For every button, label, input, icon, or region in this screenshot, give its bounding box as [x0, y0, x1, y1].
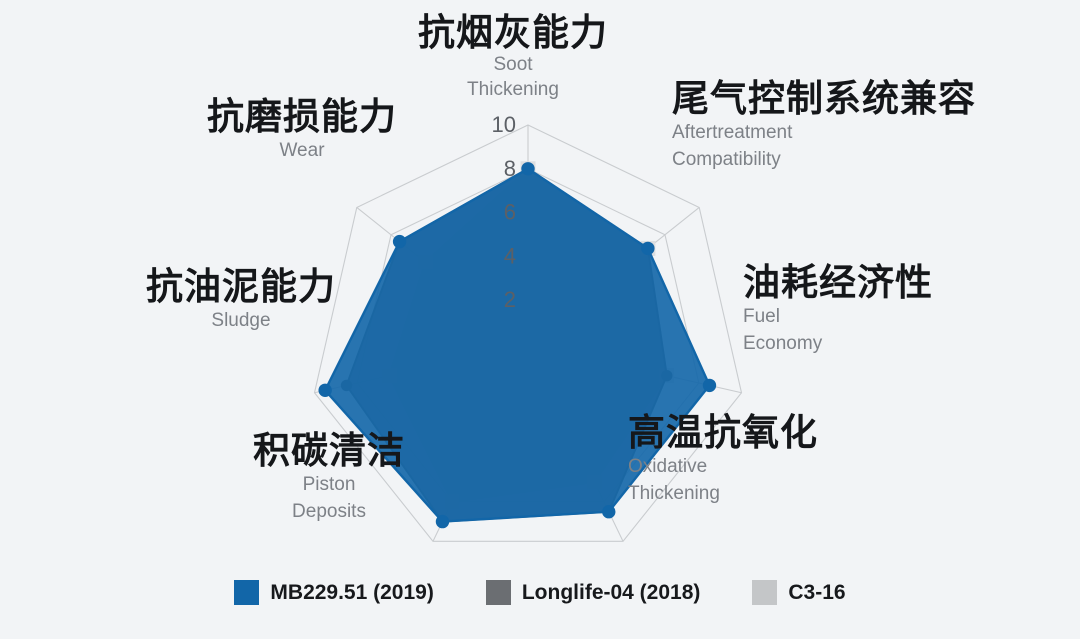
- axis-label-cn: 油耗经济性: [743, 264, 933, 303]
- axis-label-cn: 高温抗氧化: [628, 414, 818, 453]
- axis-label-cn: 抗油泥能力: [146, 268, 336, 307]
- axis-label-wear: 抗磨损能力 Wear: [207, 98, 397, 164]
- radar-data-point: [393, 235, 405, 247]
- radar-data-point: [436, 515, 448, 527]
- radial-tick-label: 8: [504, 156, 516, 181]
- legend-item-c316[interactable]: C3-16: [752, 580, 845, 605]
- legend-swatch-icon: [752, 580, 777, 605]
- legend-item-longlife04[interactable]: Longlife-04 (2018): [486, 580, 701, 605]
- axis-label-fuel-economy: 油耗经济性 Fuel Economy: [743, 264, 933, 358]
- axis-label-cn: 抗磨损能力: [207, 98, 397, 137]
- axis-label-cn: 尾气控制系统兼容: [672, 80, 976, 119]
- axis-label-en-line2: Thickening: [418, 76, 608, 104]
- radial-tick-label: 4: [504, 243, 516, 268]
- axis-label-cn: 积碳清洁: [253, 432, 405, 471]
- axis-label-en-line1: Wear: [207, 137, 397, 165]
- radar-data-point: [319, 384, 331, 396]
- legend-swatch-icon: [486, 580, 511, 605]
- axis-label-en-line1: Oxidative: [628, 453, 818, 481]
- radar-data-point: [703, 379, 715, 391]
- legend-swatch-icon: [234, 580, 259, 605]
- axis-label-cn: 抗烟灰能力: [418, 14, 608, 53]
- axis-label-en-line1: Soot: [418, 51, 608, 79]
- axis-label-piston-deposits: 积碳清洁 Piston Deposits: [253, 432, 405, 526]
- radial-tick-label: 2: [504, 287, 516, 312]
- axis-label-en-line2: Compatibility: [672, 146, 976, 174]
- legend-label: C3-16: [788, 581, 845, 605]
- legend-label: MB229.51 (2019): [270, 581, 433, 605]
- legend-label: Longlife-04 (2018): [522, 581, 701, 605]
- legend-item-mb22951[interactable]: MB229.51 (2019): [234, 580, 433, 605]
- axis-label-en-line2: Economy: [743, 330, 933, 358]
- axis-label-en-line1: Fuel: [743, 303, 933, 331]
- axis-label-oxidative-thickening: 高温抗氧化 Oxidative Thickening: [628, 414, 818, 508]
- radial-tick-label: 6: [504, 200, 516, 225]
- axis-label-aftertreatment-compatibility: 尾气控制系统兼容 Aftertreatment Compatibility: [672, 80, 976, 174]
- axis-label-en-line1: Piston: [253, 471, 405, 499]
- axis-label-en-line1: Aftertreatment: [672, 119, 976, 147]
- radar-data-point: [522, 163, 534, 175]
- radar-chart-figure: 108642 抗烟灰能力 Soot Thickening 抗磨损能力 Wear …: [0, 0, 1080, 639]
- chart-legend: MB229.51 (2019) Longlife-04 (2018) C3-16: [0, 580, 1080, 605]
- radial-tick-label: 10: [492, 112, 516, 137]
- radar-data-point: [603, 506, 615, 518]
- axis-label-sludge: 抗油泥能力 Sludge: [146, 268, 336, 334]
- axis-label-en-line2: Deposits: [253, 498, 405, 526]
- axis-label-en-line2: Thickening: [628, 480, 818, 508]
- axis-label-soot-thickening: 抗烟灰能力 Soot Thickening: [418, 14, 608, 104]
- radar-data-point: [642, 242, 654, 254]
- axis-label-en-line1: Sludge: [146, 307, 336, 335]
